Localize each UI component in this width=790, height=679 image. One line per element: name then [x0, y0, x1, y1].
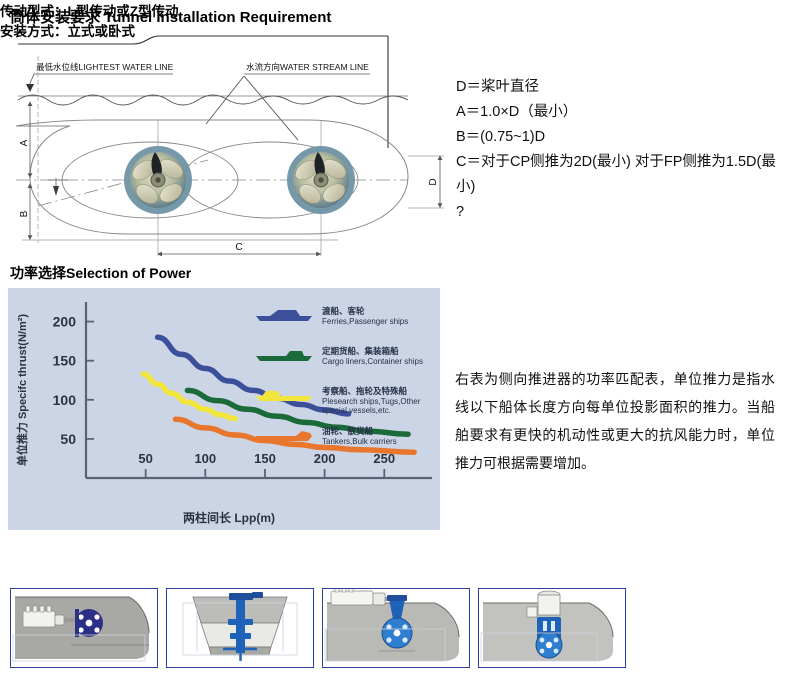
page-title-tunnel: 筒体安装要求 Tunnel Installation Requirement — [10, 6, 331, 27]
x-tick-label-3: 200 — [314, 451, 336, 466]
formula-line-c: C＝对于CP侧推为2D(最小) 对于FP侧推为1.5D(最小) — [456, 150, 778, 200]
formula-line-d: D＝桨叶直径 — [456, 75, 778, 100]
formula-list: D＝桨叶直径 A＝1.0×D（最小） B＝(0.75~1)D C＝对于CP侧推为… — [456, 75, 778, 225]
y-tick-label-1: 100 — [53, 392, 77, 408]
y-tick-label-3: 200 — [53, 314, 77, 330]
propeller-right — [287, 146, 355, 214]
x-tick-label-0: 50 — [138, 451, 152, 466]
legend-label-cn-2: 考察船、拖轮及特殊船 — [322, 386, 408, 396]
section-title-power: 功率选择Selection of Power — [10, 263, 191, 283]
panel-vertical-shaft-section — [166, 588, 314, 668]
y-axis-title: 单位推力 Specifc thrust(N/m²) — [15, 314, 29, 467]
legend-label-en-0-0: Ferries,Passenger ships — [322, 317, 408, 326]
dimension-label-a: A — [19, 139, 30, 146]
x-tick-label-2: 150 — [254, 451, 276, 466]
dimension-label-b: B — [19, 210, 30, 217]
label-water-stream-line: 水流方向WATER STREAM LINE — [246, 62, 369, 72]
dimension-label-c: C — [235, 242, 242, 253]
legend-label-en-2-0: Plesearch ships,Tugs,Other — [322, 397, 421, 406]
legend-label-cn-1: 定期货船、集装箱船 — [321, 346, 399, 356]
installation-panel-row — [10, 588, 780, 670]
formula-line-question: ? — [456, 200, 778, 225]
legend-label-en-3-0: Tankers,Bulk carriers — [322, 437, 397, 446]
x-axis-title: 两柱间长 Lpp(m) — [183, 510, 275, 525]
legend-label-en-1-0: Cargo liners,Container ships — [322, 357, 423, 366]
power-note-paragraph: 右表为侧向推进器的功率匹配表，单位推力是指水线以下船体长度方向每单位投影面积的推… — [455, 365, 775, 477]
legend-label-en-2-1: special vessels,etc. — [322, 406, 391, 415]
formula-line-a: A＝1.0×D（最小） — [456, 100, 778, 125]
specific-thrust-chart: 5010015020050100150200250两柱间长 Lpp(m)单位推力… — [8, 288, 440, 530]
x-tick-label-1: 100 — [194, 451, 216, 466]
panel-vertical-tunnel-thruster — [478, 588, 626, 668]
y-tick-label-2: 150 — [53, 353, 77, 369]
legend-label-cn-3: 油轮、散货船 — [322, 426, 374, 436]
legend-label-cn-0: 渡船、客轮 — [322, 306, 365, 316]
formula-line-b: B＝(0.75~1)D — [456, 125, 778, 150]
label-lightest-water-line: 最低水位线LIGHTEST WATER LINE — [36, 62, 174, 72]
propeller-left — [124, 146, 192, 214]
panel-horizontal-engine-thruster — [10, 588, 158, 668]
tunnel-installation-diagram: 最低水位线LIGHTEST WATER LINE 水流方向WATER STREA… — [8, 28, 448, 256]
panel-l-drive-thruster — [322, 588, 470, 668]
dimension-label-d: D — [428, 178, 439, 185]
y-tick-label-0: 50 — [60, 431, 76, 447]
